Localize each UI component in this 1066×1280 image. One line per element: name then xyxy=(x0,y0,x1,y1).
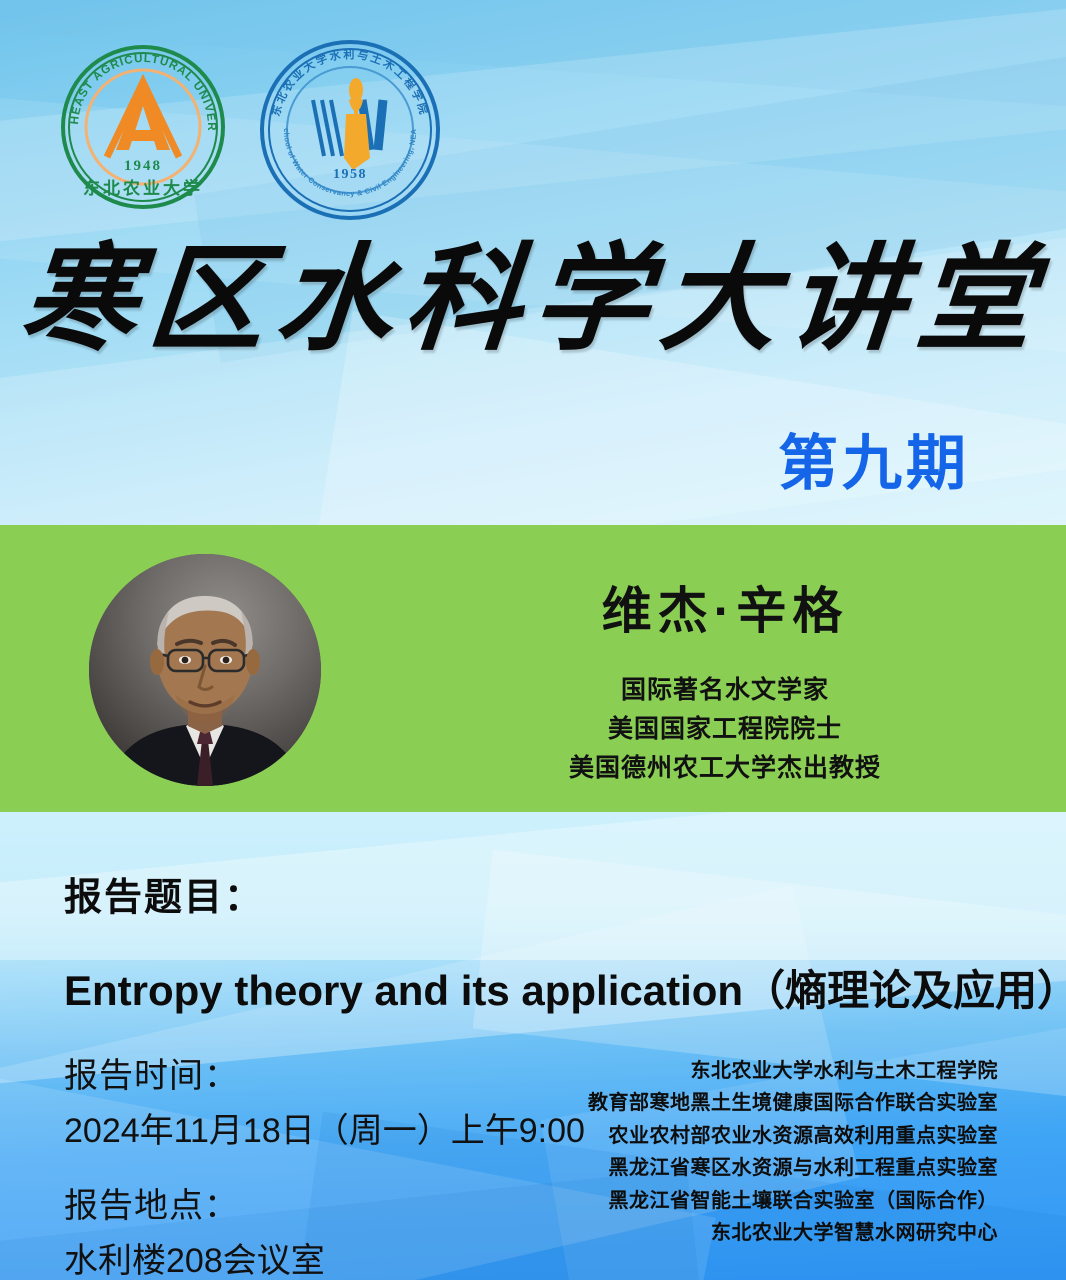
logo-group: NORTHEAST AGRICULTURAL UNIVERSITY 1948 东… xyxy=(58,38,478,218)
northeast-agricultural-university-logo: NORTHEAST AGRICULTURAL UNIVERSITY 1948 东… xyxy=(58,42,228,212)
place-label: 报告地点： xyxy=(64,1178,585,1227)
time-label: 报告时间： xyxy=(64,1048,585,1097)
speaker-info: 维杰·辛格 国际著名水文学家 美国国家工程院院士 美国德州农工大学杰出教授 xyxy=(430,571,1020,787)
svg-text:东北农业大学水利与土木工程学院: 东北农业大学水利与土木工程学院 xyxy=(268,47,431,118)
event-details: 报告时间： 2024年11月18日（周一）上午9:00 报告地点： 水利楼208… xyxy=(64,1048,585,1280)
topic-title: Entropy theory and its application（熵理论及应… xyxy=(64,957,1024,1018)
time-value: 2024年11月18日（周一）上午9:00 xyxy=(64,1103,585,1152)
neau-logo-cn-name: 东北农业大学 xyxy=(83,178,203,198)
svg-text:1958: 1958 xyxy=(333,167,367,182)
poster-title-area: 寒区水科学大讲堂 xyxy=(0,243,1066,359)
organizer-list: 东北农业大学水利与土木工程学院 教育部寒地黑土生境健康国际合作联合实验室 农业农… xyxy=(578,1055,998,1249)
organizer-item: 教育部寒地黑土生境健康国际合作联合实验室 xyxy=(578,1087,998,1119)
svg-text:1948: 1948 xyxy=(124,158,162,174)
seminar-poster: NORTHEAST AGRICULTURAL UNIVERSITY 1948 东… xyxy=(0,0,1066,1280)
organizer-item: 黑龙江省寒区水资源与水利工程重点实验室 xyxy=(578,1152,998,1184)
school-of-water-conservancy-logo: 东北农业大学水利与土木工程学院 School of Water Conserva… xyxy=(258,38,442,222)
place-value: 水利楼208会议室 xyxy=(64,1233,585,1280)
page-title: 寒区水科学大讲堂 xyxy=(16,243,1050,359)
topic-section: 报告题目： Entropy theory and its application… xyxy=(64,866,1024,1018)
avatar xyxy=(89,554,321,786)
speaker-band: 维杰·辛格 国际著名水文学家 美国国家工程院院士 美国德州农工大学杰出教授 xyxy=(0,525,1066,812)
speaker-name: 维杰·辛格 xyxy=(430,571,1020,643)
speaker-credential: 美国国家工程院院士 xyxy=(430,710,1020,749)
speaker-credential: 美国德州农工大学杰出教授 xyxy=(430,749,1020,788)
organizer-item: 东北农业大学智慧水网研究中心 xyxy=(578,1217,998,1249)
organizer-item: 黑龙江省智能土壤联合实验室（国际合作） xyxy=(578,1185,998,1217)
organizer-item: 农业农村部农业水资源高效利用重点实验室 xyxy=(578,1120,998,1152)
organizer-item: 东北农业大学水利与土木工程学院 xyxy=(578,1055,998,1087)
issue-number: 第九期 xyxy=(778,415,970,502)
speaker-credential: 国际著名水文学家 xyxy=(430,671,1020,710)
topic-label: 报告题目： xyxy=(64,866,1024,921)
